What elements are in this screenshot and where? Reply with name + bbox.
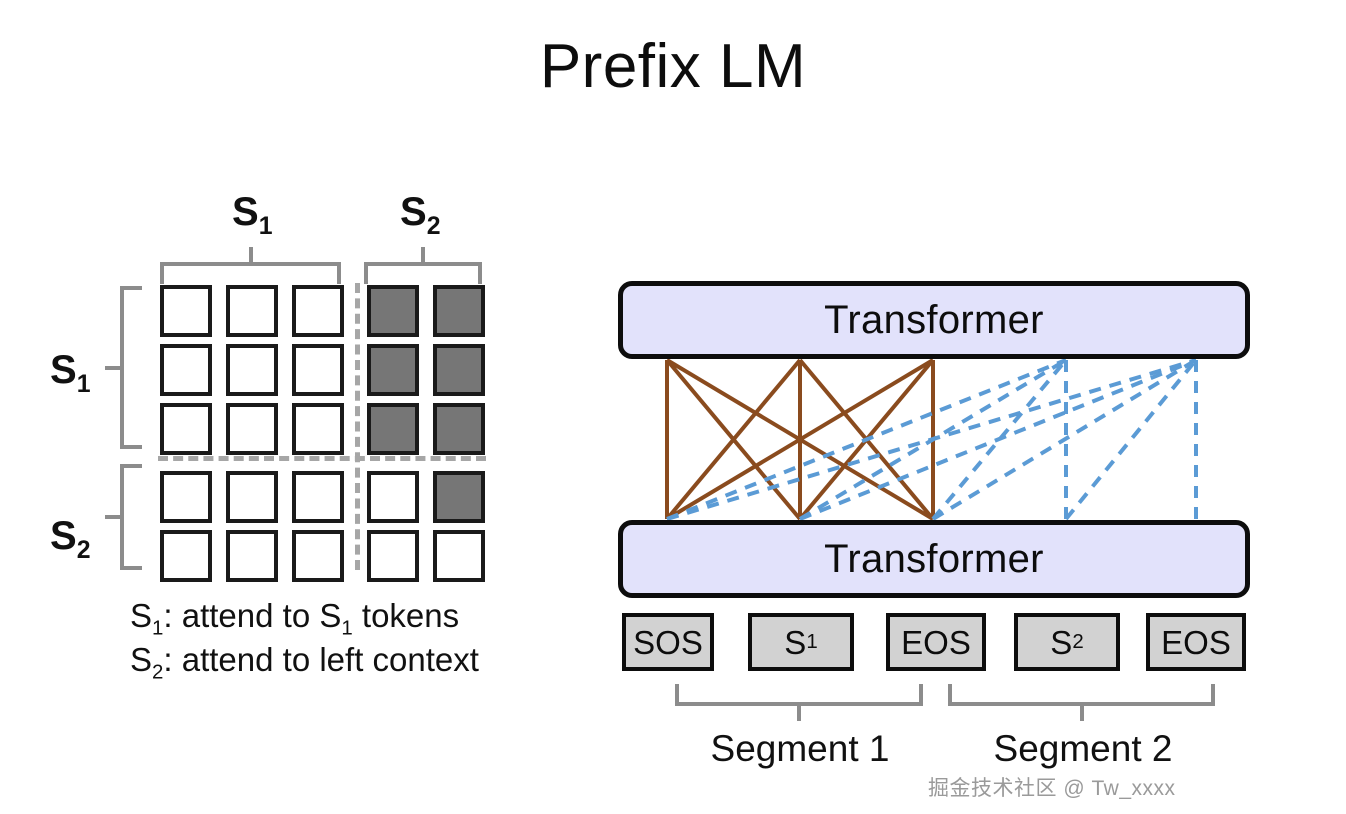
bracket-tick: [797, 706, 801, 721]
transformer-box-bottom-label: Transformer: [824, 537, 1044, 582]
watermark: 掘金技术社区 @ Tw_xxxx: [928, 772, 1176, 802]
bracket-tick: [1080, 706, 1084, 721]
token-label: EOS: [901, 626, 971, 659]
transformer-box-bottom: Transformer: [618, 520, 1250, 598]
transformer-stack-panel: Transformer Transformer SOS S1 EOS S2 EO…: [0, 0, 1346, 814]
token-label: S: [784, 626, 806, 659]
token-label: S: [1050, 626, 1072, 659]
token-eos-2[interactable]: EOS: [1146, 613, 1246, 671]
segment-label-1: Segment 1: [655, 730, 945, 767]
token-label: EOS: [1161, 626, 1231, 659]
edge-cross-2-to-5: [800, 360, 1196, 519]
edge-cross-4-to-5: [1066, 360, 1196, 519]
bracket-leg-left: [948, 684, 952, 706]
token-eos-1[interactable]: EOS: [886, 613, 986, 671]
token-s1[interactable]: S1: [748, 613, 854, 671]
transformer-box-top-label: Transformer: [824, 298, 1044, 343]
segment-bracket-1: [675, 684, 923, 706]
slide-canvas: Prefix LM S1 S2 S1 S2: [0, 0, 1346, 814]
edge-cross-1-to-4: [667, 360, 1066, 519]
segment-bracket-2: [948, 684, 1215, 706]
bracket-leg-left: [675, 684, 679, 706]
token-s2[interactable]: S2: [1014, 613, 1120, 671]
token-label: SOS: [633, 626, 703, 659]
segment-label-2: Segment 2: [938, 730, 1228, 767]
bracket-leg-right: [1211, 684, 1215, 706]
token-sos[interactable]: SOS: [622, 613, 714, 671]
bracket-leg-right: [919, 684, 923, 706]
transformer-box-top: Transformer: [618, 281, 1250, 359]
